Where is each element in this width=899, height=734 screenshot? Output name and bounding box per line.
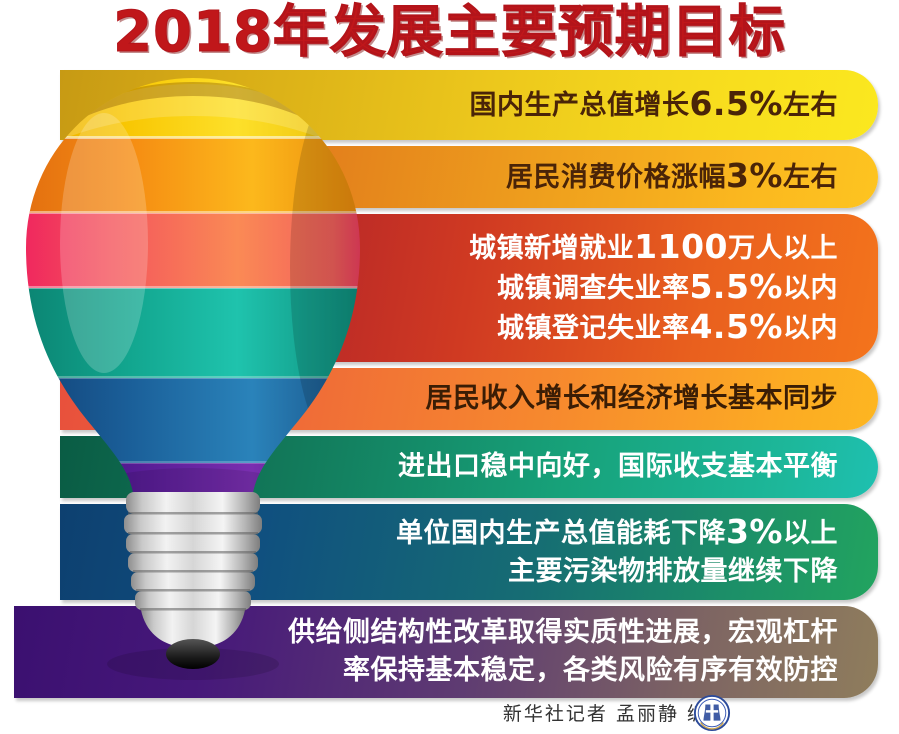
banner-line: 城镇新增就业1100万人以上 bbox=[60, 228, 838, 268]
banner-line: 进出口稳中向好，国际收支基本平衡 bbox=[60, 448, 838, 486]
banner-row-gdp-growth: 国内生产总值增长6.5%左右 bbox=[60, 70, 878, 140]
xinhua-news-agency-logo bbox=[693, 694, 731, 732]
banner-row-energy-emissions: 单位国内生产总值能耗下降3%以上 主要污染物排放量继续下降 bbox=[60, 504, 878, 600]
banner-line: 单位国内生产总值能耗下降3%以上 bbox=[60, 513, 838, 553]
banner-line: 城镇调查失业率5.5%以内 bbox=[60, 268, 838, 308]
banner-row-employment: 城镇新增就业1100万人以上 城镇调查失业率5.5%以内 城镇登记失业率4.5%… bbox=[60, 214, 878, 362]
banner-line: 城镇登记失业率4.5%以内 bbox=[60, 308, 838, 348]
banner-line: 率保持基本稳定，各类风险有序有效防控 bbox=[14, 652, 838, 690]
banner-row-income-growth: 居民收入增长和经济增长基本同步 bbox=[60, 368, 878, 430]
infographic-poster: 2018年发展主要预期目标 国内生产总值增长6.5%左右 居民消费价格涨幅3%左… bbox=[0, 0, 899, 734]
banner-line: 居民收入增长和经济增长基本同步 bbox=[60, 380, 838, 418]
banner-line: 居民消费价格涨幅3%左右 bbox=[60, 157, 838, 197]
banner-line: 主要污染物排放量继续下降 bbox=[60, 553, 838, 591]
page-title: 2018年发展主要预期目标 bbox=[0, 2, 899, 64]
banner-line: 国内生产总值增长6.5%左右 bbox=[60, 85, 838, 125]
banner-row-cpi: 居民消费价格涨幅3%左右 bbox=[60, 146, 878, 208]
banner-line: 供给侧结构性改革取得实质性进展，宏观杠杆 bbox=[14, 614, 838, 652]
banner-row-supply-side-reform: 供给侧结构性改革取得实质性进展，宏观杠杆 率保持基本稳定，各类风险有序有效防控 bbox=[14, 606, 878, 698]
banner-row-trade-balance: 进出口稳中向好，国际收支基本平衡 bbox=[60, 436, 878, 498]
